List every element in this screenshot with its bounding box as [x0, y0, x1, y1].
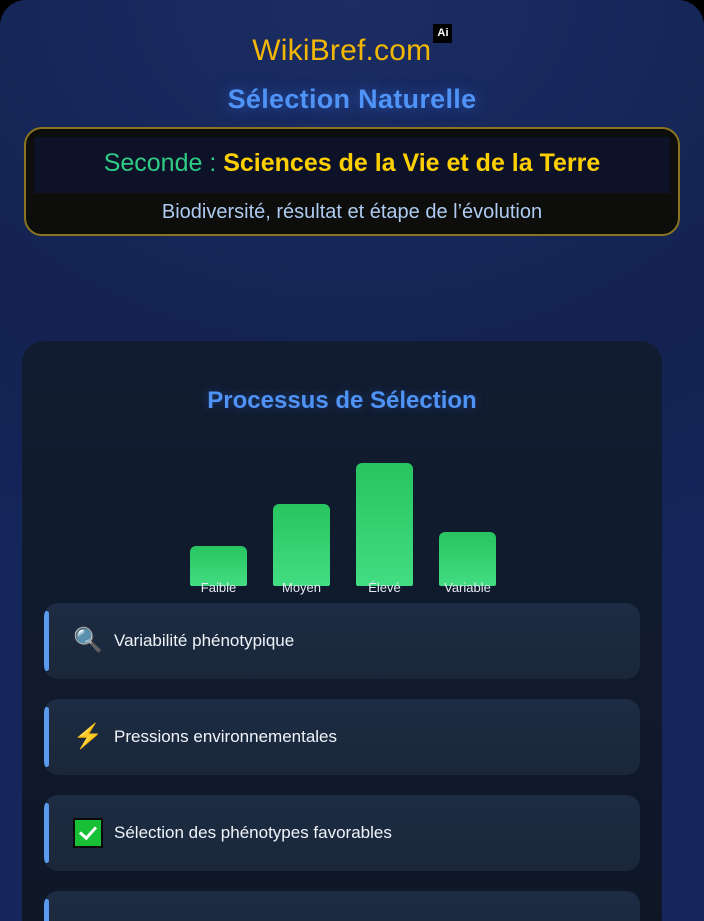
x-tick-label: Moyen	[273, 580, 330, 595]
chart-bars	[190, 446, 496, 586]
subject-line: Seconde : Sciences de la Vie et de la Te…	[48, 147, 656, 179]
item-accent-bar	[44, 899, 49, 921]
item-accent-bar	[44, 707, 49, 767]
brand-name: WikiBref.com	[252, 34, 431, 67]
list-item[interactable]: Sélection des phénotypes favorables	[44, 795, 640, 871]
page-title: Sélection Naturelle	[0, 84, 704, 115]
list-item-label: Pressions environnementales	[114, 727, 337, 747]
process-list: 🔍 Variabilité phénotypique ⚡ Pressions e…	[44, 603, 640, 921]
item-accent-bar	[44, 803, 49, 863]
subject-name: Sciences de la Vie et de la Terre	[223, 149, 600, 177]
green-check-box-icon	[66, 818, 110, 848]
subject-banner: Seconde : Sciences de la Vie et de la Te…	[24, 127, 680, 236]
header: WikiBref.comAi Sélection Naturelle	[0, 0, 704, 115]
x-tick-label: Élevé	[356, 580, 413, 595]
subject-level: Seconde :	[104, 149, 224, 177]
subject-banner-inner: Seconde : Sciences de la Vie et de la Te…	[34, 137, 670, 193]
bar-moyen[interactable]	[273, 504, 330, 586]
bar-column	[439, 446, 496, 586]
brand-logo[interactable]: WikiBref.comAi	[252, 36, 451, 66]
list-item[interactable]: ⚡ Pressions environnementales	[44, 699, 640, 775]
list-item-label: Variabilité phénotypique	[114, 631, 294, 651]
list-item[interactable]	[44, 891, 640, 921]
list-item-label: Sélection des phénotypes favorables	[114, 823, 392, 843]
x-tick-label: Variable	[439, 580, 496, 595]
chart-title: Processus de Sélection	[22, 387, 662, 415]
bar-column	[273, 446, 330, 586]
chart-x-tick-labels: Faible Moyen Élevé Variable	[190, 580, 496, 595]
x-tick-label: Faible	[190, 580, 247, 595]
page-card: WikiBref.comAi Sélection Naturelle Secon…	[0, 0, 704, 921]
bar-eleve[interactable]	[356, 463, 413, 586]
magnifying-glass-icon: 🔍	[66, 629, 110, 653]
item-accent-bar	[44, 611, 49, 671]
list-item[interactable]: 🔍 Variabilité phénotypique	[44, 603, 640, 679]
bar-column	[190, 446, 247, 586]
subject-subtitle: Biodiversité, résultat et étape de l’évo…	[34, 201, 670, 224]
bar-chart: Faible Moyen Élevé Variable	[22, 436, 662, 586]
ai-badge: Ai	[433, 24, 451, 43]
content-card: Processus de Sélection Faible Moyen	[22, 341, 662, 921]
bar-variable[interactable]	[439, 532, 496, 586]
lightning-bolt-icon: ⚡	[66, 725, 110, 749]
bar-column	[356, 446, 413, 586]
